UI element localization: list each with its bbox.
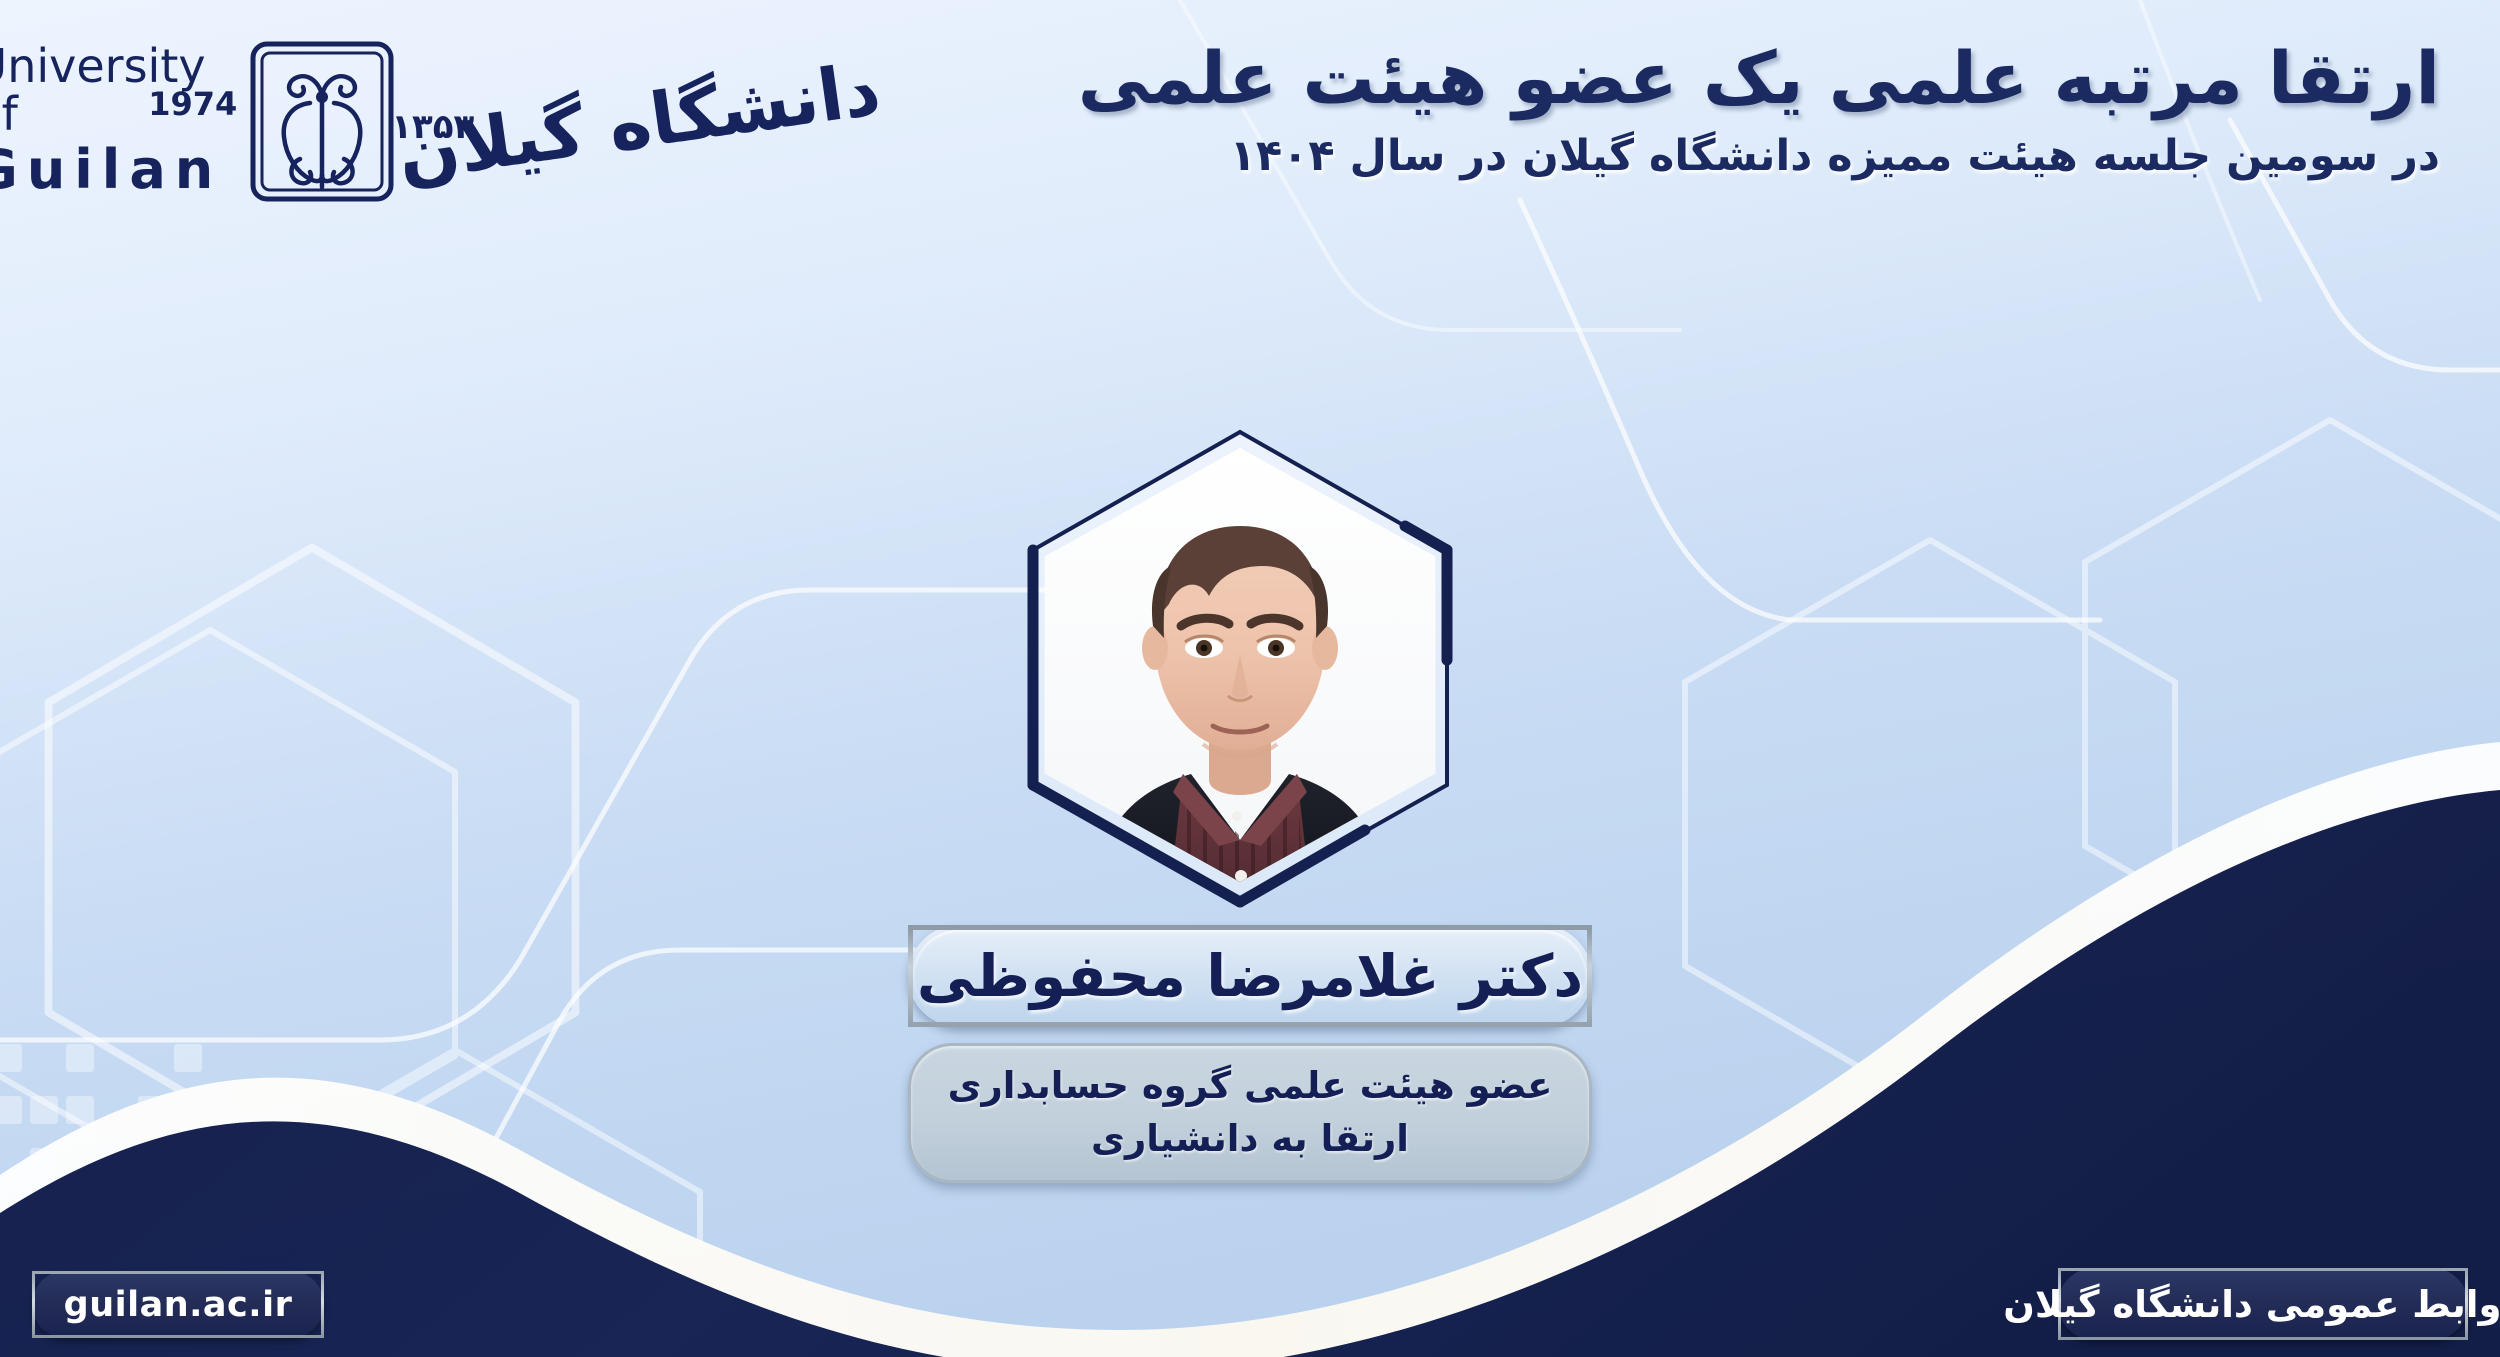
title-block: ارتقا مرتبه علمی یک عضو هیئت علمی در سوم… (1040, 36, 2440, 185)
page-subtitle: در سومین جلسه هیئت ممیزه دانشگاه گیلان د… (1040, 129, 2440, 185)
person-role-badge: عضو هیئت علمی گروه حسابداری ارتقا به دان… (908, 1043, 1592, 1183)
person-role-line2: ارتقا به دانشیاری (1091, 1113, 1409, 1166)
logo-year-en: 1974 (148, 85, 237, 123)
person-name: دکتر غلامرضا محفوظی (917, 947, 1583, 1005)
public-relations-label: روابط عمومی دانشگاه گیلان (2003, 1283, 2500, 1326)
poster-header: دانشگاه گیلان ۱۳۵۳ 1974 (0, 0, 2500, 250)
website-pill[interactable]: guilan.ac.ir (32, 1271, 324, 1338)
guilan-university-emblem-icon: ۱۳۵۳ 1974 (248, 39, 396, 204)
website-url: guilan.ac.ir (64, 1285, 293, 1325)
person-role-line1: عضو هیئت علمی گروه حسابداری (948, 1060, 1553, 1113)
poster-canvas: دانشگاه گیلان ۱۳۵۳ 1974 (0, 0, 2500, 1357)
public-relations-pill: روابط عمومی دانشگاه گیلان (2058, 1268, 2468, 1340)
university-logo: دانشگاه گیلان ۱۳۵۳ 1974 (60, 34, 890, 209)
emblem-svg (248, 39, 396, 204)
portrait-frame (1015, 440, 1465, 890)
person-name-badge: دکتر غلامرضا محفوظی (908, 925, 1592, 1027)
logo-year-fa: ۱۳۵۳ (391, 107, 474, 147)
logo-english-line2: Guilan (0, 139, 222, 201)
page-title: ارتقا مرتبه علمی یک عضو هیئت علمی (1040, 36, 2440, 121)
